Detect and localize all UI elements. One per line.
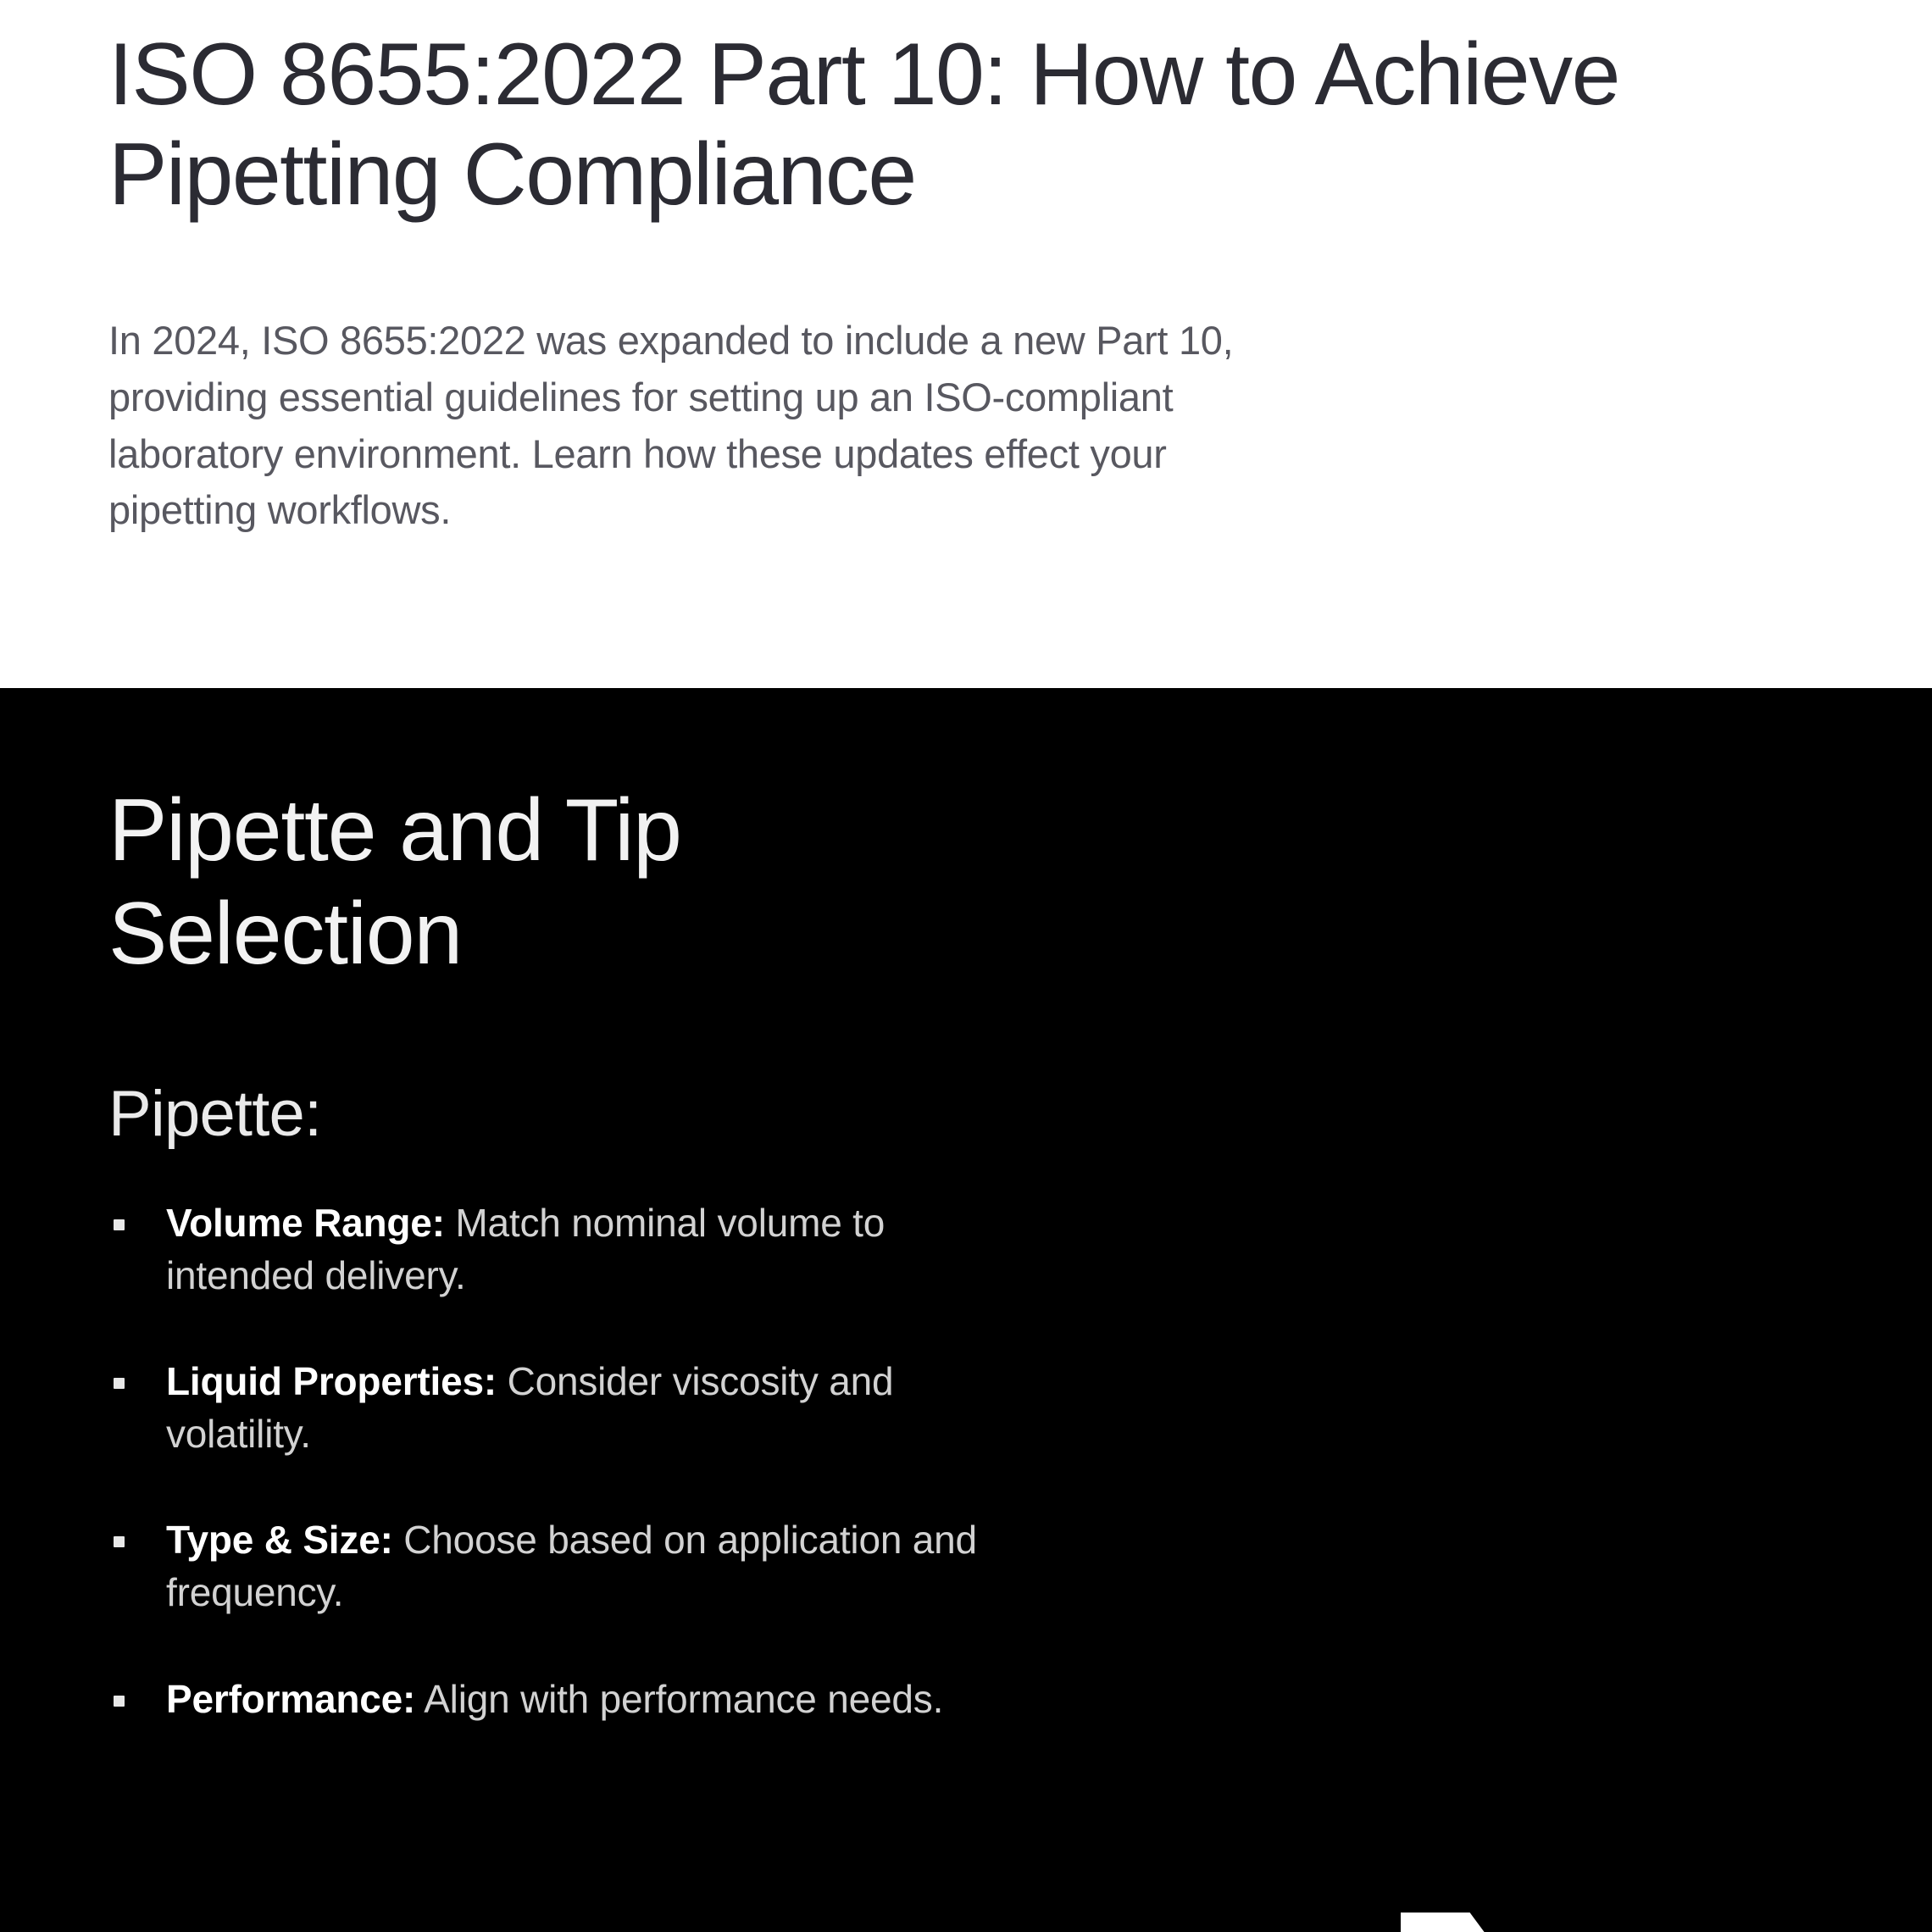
list-item-term: Performance: [166, 1677, 415, 1721]
bullet-marker-icon [114, 1378, 125, 1389]
list-item-term: Volume Range: [166, 1201, 445, 1245]
section-heading: Pipette and Tip Selection [108, 688, 888, 985]
list-item-term: Type & Size: [166, 1518, 393, 1562]
list-item: Performance: Align with performance need… [108, 1674, 1007, 1726]
page-title: ISO 8655:2022 Part 10: How to Achieve Pi… [108, 25, 1651, 225]
bullet-marker-icon [114, 1219, 125, 1230]
subsection-heading: Pipette: [108, 985, 1932, 1150]
list-item: Liquid Properties: Consider viscosity an… [108, 1356, 1007, 1460]
bullet-marker-icon [114, 1536, 125, 1547]
infographic-page: ISO 8655:2022 Part 10: How to Achieve Pi… [0, 0, 1932, 1932]
list-item-description: Align with performance needs. [415, 1677, 943, 1721]
intro-paragraph: In 2024, ISO 8655:2022 was expanded to i… [108, 313, 1269, 539]
hand-holding-pipette-icon [1246, 1874, 1890, 1932]
list-item-term: Liquid Properties: [166, 1359, 497, 1403]
pipette-tip-selection-section: Pipette and Tip Selection Pipette: Volum… [0, 688, 1932, 1932]
list-item: Type & Size: Choose based on application… [108, 1514, 1007, 1618]
bullet-marker-icon [114, 1696, 125, 1707]
list-item: Volume Range: Match nominal volume to in… [108, 1197, 1007, 1302]
pipette-criteria-list: Volume Range: Match nominal volume to in… [108, 1150, 1007, 1725]
intro-section: ISO 8655:2022 Part 10: How to Achieve Pi… [0, 0, 1932, 688]
